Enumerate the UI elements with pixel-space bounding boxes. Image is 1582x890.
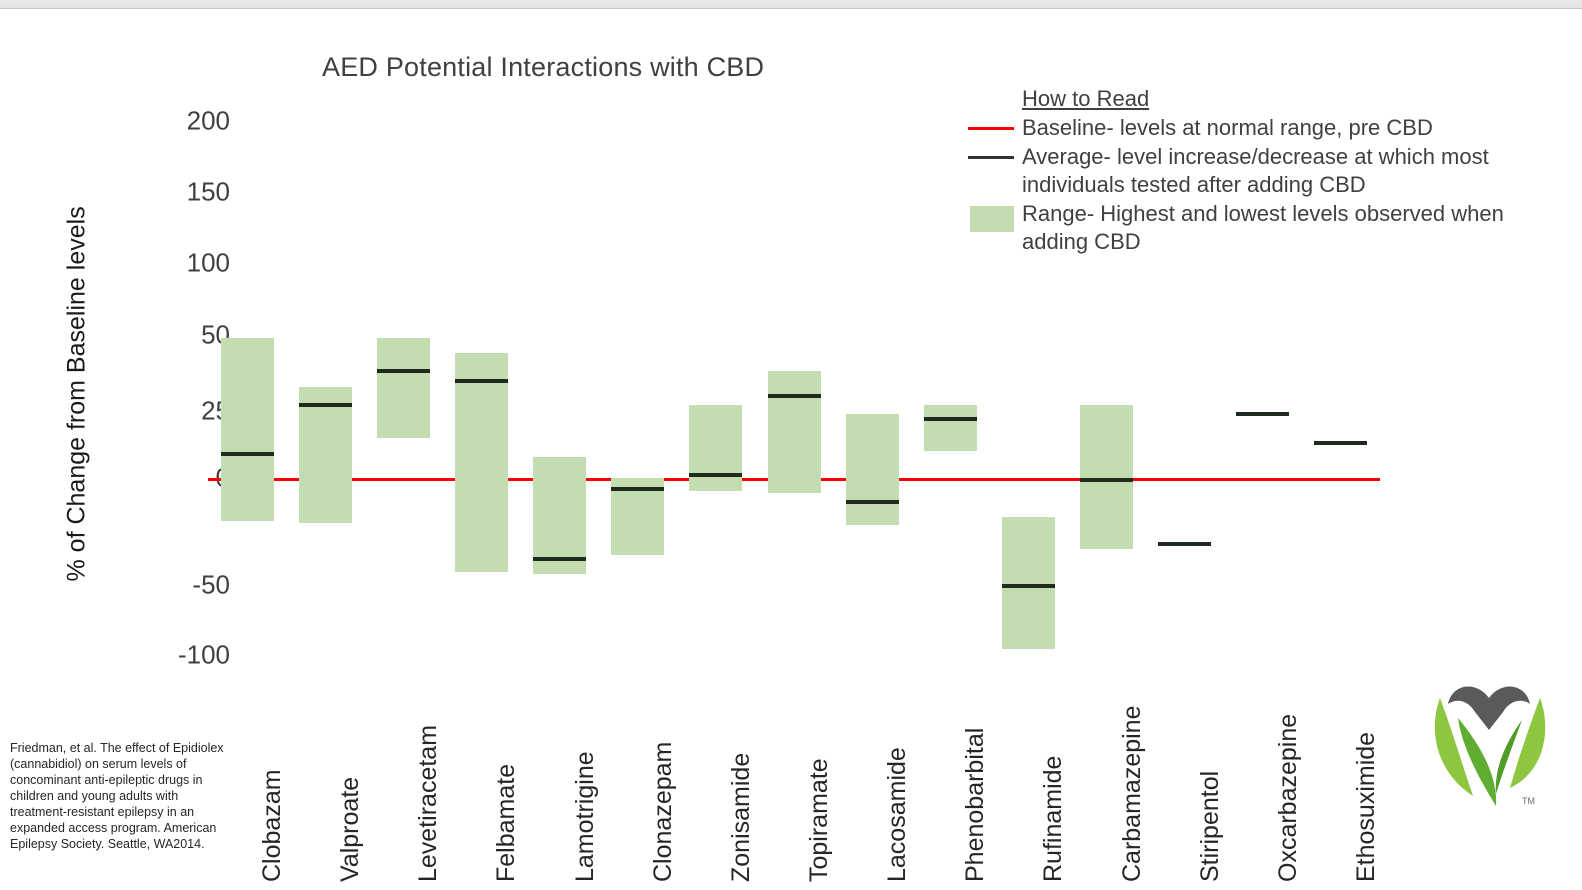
y-axis-title: % of Change from Baseline levels: [63, 252, 92, 582]
legend: How to Read Baseline- levels at normal r…: [968, 86, 1568, 257]
legend-item-label: Average- level increase/decrease at whic…: [1022, 143, 1568, 199]
bar-group[interactable]: [377, 100, 430, 680]
x-tick-label: Clonazepam: [649, 742, 678, 882]
average-swatch-icon: [968, 143, 1014, 171]
x-tick-label: Valproate: [336, 777, 365, 882]
page-title: AED Potential Interactions with CBD: [322, 52, 764, 83]
average-line: [533, 557, 586, 561]
x-tick-label: Stiripentol: [1196, 771, 1225, 882]
average-line: [846, 500, 899, 504]
average-line: [299, 403, 352, 407]
x-axis-labels: ClobazamValproateLevetiracetamFelbamateL…: [208, 672, 1380, 887]
trademark-label: TM: [1522, 796, 1535, 806]
range-bar[interactable]: [1080, 405, 1133, 549]
average-line: [1236, 412, 1289, 416]
x-tick-label: Levetiracetam: [414, 725, 443, 882]
x-tick-label: Lacosamide: [883, 747, 912, 882]
legend-item-range: Range- Highest and lowest levels observe…: [968, 200, 1568, 256]
bar-group[interactable]: [533, 100, 586, 680]
x-tick-label: Phenobarbital: [961, 728, 990, 882]
legend-item-average: Average- level increase/decrease at whic…: [968, 143, 1568, 199]
average-line: [1002, 584, 1055, 588]
leaf-heart-logo: TM: [1418, 668, 1568, 848]
bar-group[interactable]: [299, 100, 352, 680]
bar-group[interactable]: [846, 100, 899, 680]
bar-group[interactable]: [768, 100, 821, 680]
range-swatch-icon: [968, 200, 1014, 228]
range-bar[interactable]: [846, 414, 899, 525]
logo-graphic: [1418, 668, 1568, 828]
average-line: [455, 379, 508, 383]
x-tick-label: Lamotrigine: [571, 751, 600, 882]
range-bar[interactable]: [377, 338, 430, 438]
baseline-swatch-icon: [968, 114, 1014, 142]
average-line: [1080, 478, 1133, 482]
x-tick-label: Clobazam: [258, 769, 287, 882]
average-line: [377, 369, 430, 373]
range-bar[interactable]: [221, 338, 274, 521]
range-bar[interactable]: [455, 353, 508, 572]
average-line: [221, 452, 274, 456]
x-tick-label: Felbamate: [492, 764, 521, 882]
bar-group[interactable]: [611, 100, 664, 680]
x-tick-label: Rufinamide: [1039, 756, 1068, 882]
x-tick-label: Oxcarbazepine: [1274, 714, 1303, 882]
legend-title: How to Read: [1022, 86, 1568, 112]
average-line: [1158, 542, 1211, 546]
average-line: [611, 487, 664, 491]
average-line: [1314, 441, 1367, 445]
x-tick-label: Ethosuximide: [1352, 732, 1381, 882]
window-chrome-bar: [0, 0, 1582, 9]
range-bar[interactable]: [299, 387, 352, 523]
legend-item-baseline: Baseline- levels at normal range, pre CB…: [968, 114, 1568, 142]
x-tick-label: Zonisamide: [727, 753, 756, 882]
range-bar[interactable]: [768, 371, 821, 493]
bar-group[interactable]: [455, 100, 508, 680]
average-line: [924, 417, 977, 421]
x-tick-label: Topiramate: [805, 758, 834, 882]
x-tick-label: Carbamazepine: [1118, 706, 1147, 883]
bar-group[interactable]: [221, 100, 274, 680]
legend-item-label: Baseline- levels at normal range, pre CB…: [1022, 114, 1433, 142]
average-line: [689, 473, 742, 477]
range-bar[interactable]: [924, 405, 977, 451]
legend-item-label: Range- Highest and lowest levels observe…: [1022, 200, 1568, 256]
citation-text: Friedman, et al. The effect of Epidiolex…: [10, 740, 224, 852]
range-bar[interactable]: [1002, 517, 1055, 650]
average-line: [768, 394, 821, 398]
range-bar[interactable]: [689, 405, 742, 491]
bar-group[interactable]: [689, 100, 742, 680]
